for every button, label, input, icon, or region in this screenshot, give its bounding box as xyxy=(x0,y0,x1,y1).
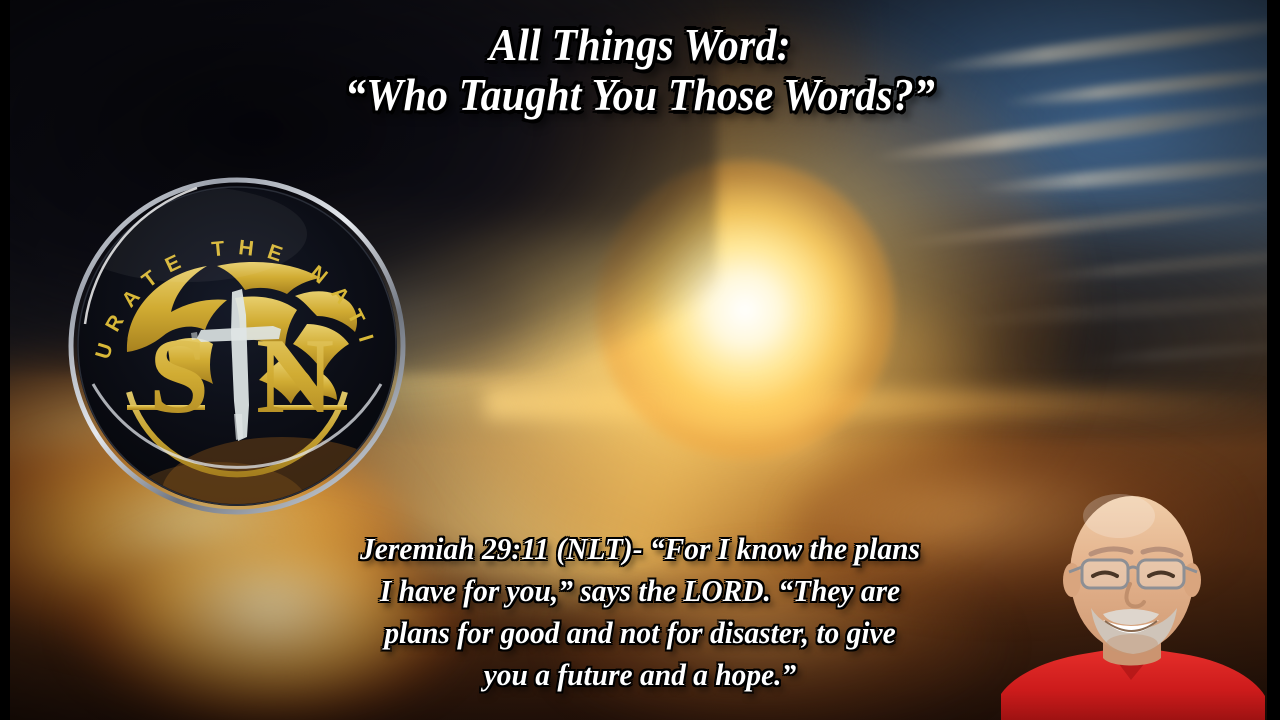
right-letterbox-bar xyxy=(1267,0,1280,720)
title-line-2: “Who Taught You Those Words?” xyxy=(45,70,1235,120)
presenter-webcam-inset xyxy=(999,468,1267,720)
scripture-line-3: plans for good and not for disaster, to … xyxy=(308,612,973,654)
scripture-line-2: I have for you,” says the LORD. “They ar… xyxy=(308,570,973,612)
scripture-quote: Jeremiah 29:11 (NLT)- “For I know the pl… xyxy=(308,528,973,695)
saturate-the-nations-logo: S N SATURATE THE NATIONS xyxy=(67,174,407,518)
scripture-line-4: you a future and a hope.” xyxy=(308,654,973,696)
scripture-line-1: Jeremiah 29:11 (NLT)- “For I know the pl… xyxy=(308,528,973,570)
title-line-1: All Things Word: xyxy=(489,20,790,70)
left-letterbox-bar xyxy=(0,0,10,720)
slide-canvas: S N SATURATE THE NATIONS xyxy=(0,0,1280,720)
slide-title: All Things Word: “Who Taught You Those W… xyxy=(45,20,1235,121)
